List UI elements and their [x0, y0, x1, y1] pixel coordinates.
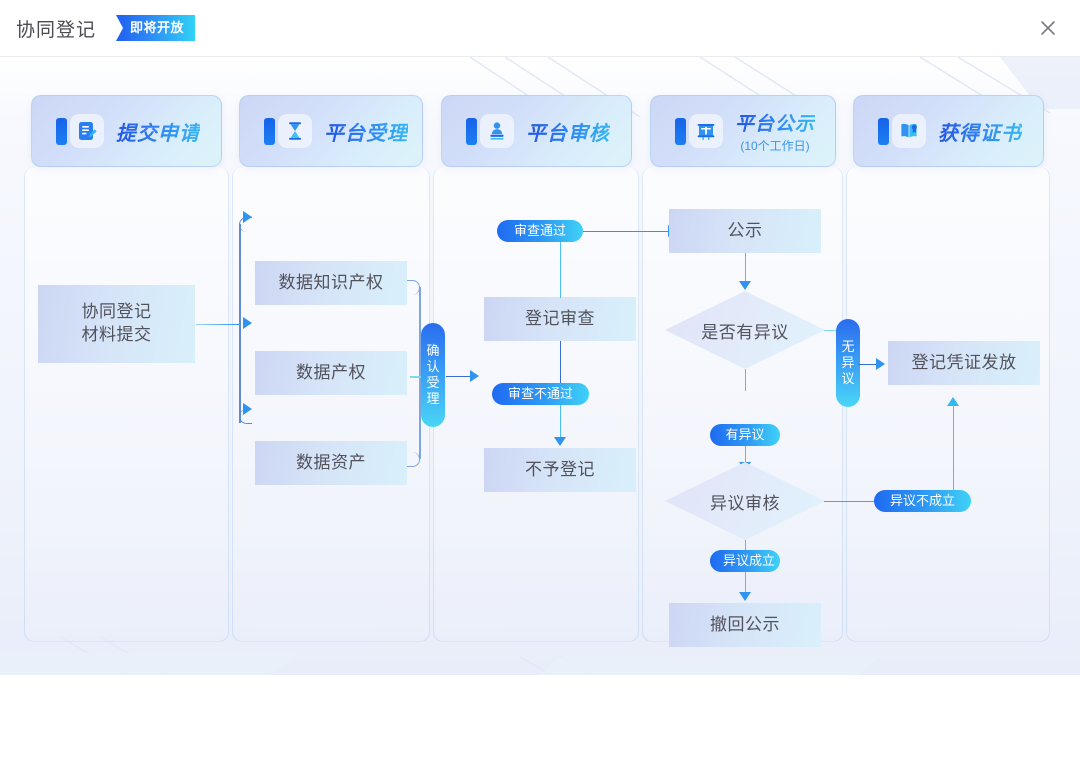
arrow-to-review [470, 370, 479, 382]
stage-label: 平台受理 [324, 117, 408, 146]
node-registration-review: 登记审查 [484, 297, 636, 341]
stamp-icon [466, 114, 514, 148]
stage-header-text-3: 平台审核 [526, 117, 610, 146]
hourglass-icon [264, 114, 312, 148]
node-submission-materials: 协同登记 材料提交 [38, 285, 195, 363]
dialog-footer: 数据知识产权登记→ 关闭 [0, 675, 1080, 769]
node-withdraw-publicity: 撤回公示 [669, 603, 821, 647]
certificate-book-icon [878, 114, 926, 148]
label-no-objection: 无 异 议 [836, 319, 860, 407]
arrow-up-to-certificate [947, 397, 959, 406]
label-review-passed: 审查通过 [497, 220, 583, 242]
arrow-to-decision [739, 281, 751, 290]
document-edit-icon [56, 114, 104, 148]
vpill-char: 异 [841, 355, 854, 371]
connector-accept-to-review [446, 376, 472, 378]
node-data-property-right: 数据产权 [255, 351, 407, 395]
stage-column-1 [24, 167, 229, 642]
label-review-failed: 审查不通过 [492, 383, 589, 405]
stage-header-text-1: 提交申请 [116, 117, 200, 146]
label-has-objection: 有异议 [710, 424, 780, 446]
connector-review-to-fail [560, 341, 562, 383]
node-data-ip-right: 数据知识产权 [255, 261, 407, 305]
connector-pass-to-publicize [583, 231, 670, 233]
dialog-header: 协同登记 即将开放 [0, 0, 1080, 57]
arrow-to-reject [554, 437, 566, 446]
vpill-char: 理 [426, 391, 439, 407]
connector-review-to-pass [560, 242, 562, 298]
vpill-char: 认 [426, 359, 439, 375]
node-registration-rejected: 不予登记 [484, 448, 636, 492]
node-line-1: 协同登记 [82, 301, 152, 324]
node-line-2: 材料提交 [82, 324, 152, 347]
stage-label: 平台公示 [735, 109, 815, 136]
announcement-board-icon [675, 114, 723, 148]
stage-header-submit-application[interactable]: 提交申请 [31, 95, 222, 167]
split-bracket-spine [239, 224, 241, 423]
vpill-char: 受 [426, 375, 439, 391]
connector-submission-to-split [196, 324, 240, 326]
label-objection-valid: 异议成立 [710, 550, 780, 572]
process-flow-diagram: 提交申请 平台受理 [0, 57, 1080, 675]
connector-decision-to-objection [745, 369, 747, 391]
label-confirm-acceptance: 确 认 受 理 [421, 323, 445, 427]
stage-header-platform-publicity[interactable]: 平台公示 (10个工作日) [650, 95, 836, 167]
stage-header-text-5: 获得证书 [938, 117, 1022, 146]
connector-fail-to-reject [560, 405, 562, 441]
page-title: 协同登记 [16, 15, 96, 42]
status-badge: 即将开放 [116, 15, 195, 41]
arrow-to-type-3 [243, 403, 252, 415]
arrow-to-certificate [876, 358, 885, 370]
vpill-char: 无 [841, 339, 854, 355]
stage-header-platform-acceptance[interactable]: 平台受理 [239, 95, 423, 167]
stage-header-obtain-certificate[interactable]: 获得证书 [853, 95, 1044, 167]
vpill-char: 议 [841, 371, 854, 387]
collaborative-registration-dialog: 协同登记 即将开放 [0, 0, 1080, 769]
stage-label: 提交申请 [116, 117, 200, 146]
stage-column-2 [232, 167, 430, 642]
stage-header-text-4: 平台公示 (10个工作日) [735, 109, 815, 154]
node-data-asset: 数据资产 [255, 441, 407, 485]
stage-header-platform-review[interactable]: 平台审核 [441, 95, 632, 167]
node-publicize: 公示 [669, 209, 821, 253]
arrow-to-type-1 [243, 211, 252, 223]
arrow-to-withdraw [739, 592, 751, 601]
node-certificate-issuance: 登记凭证发放 [888, 341, 1040, 385]
connector-objection-review-down [745, 540, 747, 550]
stage-sublabel: (10个工作日) [735, 137, 815, 154]
vpill-char: 确 [426, 343, 439, 359]
label-objection-invalid: 异议不成立 [874, 490, 971, 512]
arrow-to-type-2 [243, 317, 252, 329]
close-icon[interactable] [1036, 16, 1060, 40]
stage-label: 平台审核 [526, 117, 610, 146]
stage-header-text-2: 平台受理 [324, 117, 408, 146]
stage-label: 获得证书 [938, 117, 1022, 146]
connector-invalid-to-certificate [953, 405, 955, 491]
